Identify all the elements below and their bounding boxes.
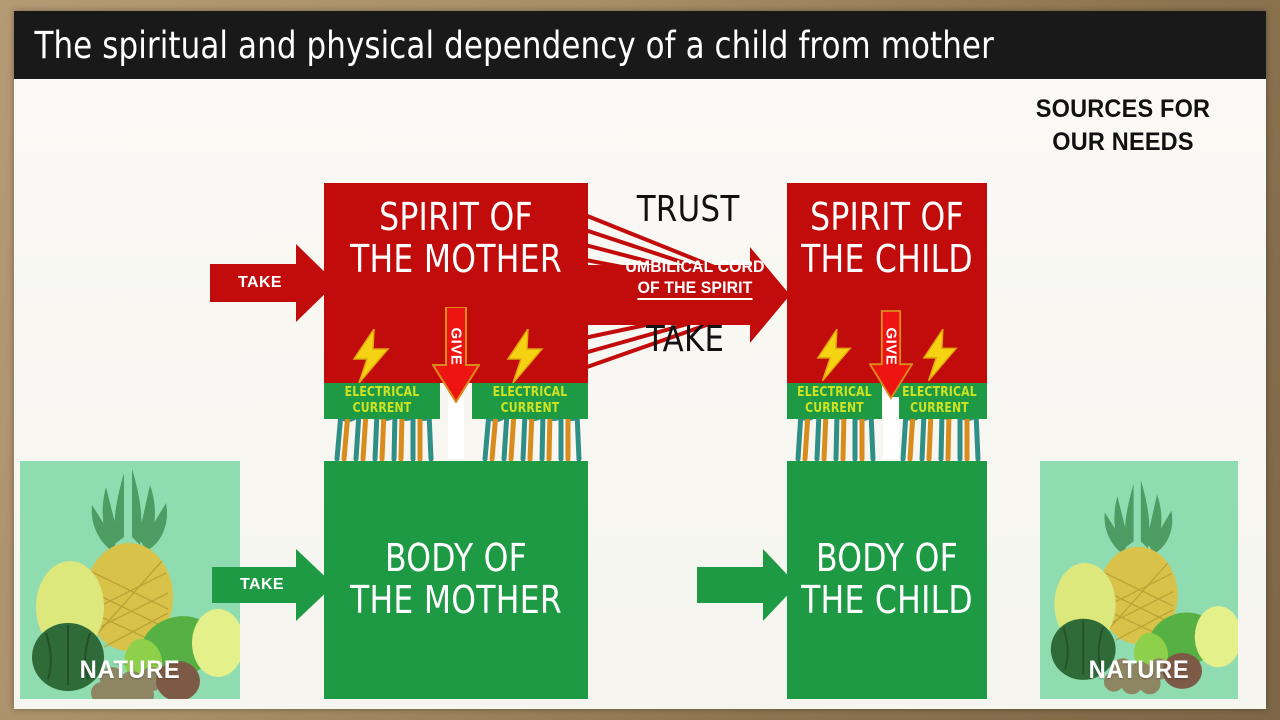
mother-electrical-band-right: ELECTRICAL CURRENT: [472, 383, 588, 419]
umbilical-caption-line1: UMBILICAL CORD: [604, 257, 786, 278]
body-mother-line1: BODY OF: [335, 538, 578, 580]
page-title: The spiritual and physical dependency of…: [14, 24, 994, 67]
child-electrical-left-text: ELECTRICAL CURRENT: [790, 385, 878, 418]
child-body-take-arrow: [697, 549, 797, 621]
mother-ec-right-line1: ELECTRICAL: [476, 385, 584, 401]
mother-give-stem: [448, 397, 464, 459]
nature-label-right: NATURE: [1045, 656, 1233, 685]
slide-canvas: The spiritual and physical dependency of…: [14, 11, 1266, 709]
mother-electrical-left-text: ELECTRICAL CURRENT: [328, 385, 436, 418]
child-lightning-bolt-right: [920, 329, 960, 381]
body-mother-line2: THE MOTHER: [335, 580, 578, 622]
spirit-child-line2: THE CHILD: [795, 239, 979, 281]
child-electrical-band-left: ELECTRICAL CURRENT: [787, 383, 882, 419]
mother-spirit-take-label: TAKE: [238, 274, 282, 292]
body-of-the-mother-box: BODY OF THE MOTHER: [324, 461, 588, 699]
mother-lightning-bolt-right: [504, 329, 546, 383]
spirit-of-the-child-label: SPIRIT OF THE CHILD: [795, 197, 979, 281]
mother-ec-left-line1: ELECTRICAL: [328, 385, 436, 401]
child-give-label: GIVE: [883, 328, 900, 362]
sources-heading-line2: OUR NEEDS: [1015, 126, 1231, 159]
body-child-line1: BODY OF: [795, 538, 979, 580]
mother-ec-right-line2: CURRENT: [476, 401, 584, 417]
title-bar: The spiritual and physical dependency of…: [14, 11, 1266, 79]
umbilical-trust-label: TRUST: [637, 189, 740, 230]
child-ec-left-line2: CURRENT: [790, 401, 878, 417]
child-lightning-bolt-left: [814, 329, 854, 381]
spirit-mother-line1: SPIRIT OF: [335, 197, 578, 239]
child-give-stem: [883, 397, 899, 459]
sources-for-our-needs-heading: SOURCES FOR OUR NEEDS: [1015, 93, 1231, 159]
body-child-line2: THE CHILD: [795, 580, 979, 622]
nature-photo-right: NATURE: [1040, 461, 1238, 699]
nature-photo-left: NATURE: [20, 461, 240, 699]
mother-electrical-band-left: ELECTRICAL CURRENT: [324, 383, 440, 419]
child-ec-right-line2: CURRENT: [895, 401, 983, 417]
mother-give-label: GIVE: [448, 328, 465, 362]
spirit-of-the-mother-label: SPIRIT OF THE MOTHER: [335, 197, 578, 281]
child-ec-left-line1: ELECTRICAL: [790, 385, 878, 401]
spirit-child-line1: SPIRIT OF: [795, 197, 979, 239]
mother-lightning-bolt-left: [350, 329, 392, 383]
umbilical-take-label: TAKE: [646, 319, 724, 360]
nature-label-left: NATURE: [26, 656, 235, 685]
sources-heading-line1: SOURCES FOR: [1015, 93, 1231, 126]
slide-frame: The spiritual and physical dependency of…: [0, 0, 1280, 720]
body-of-the-mother-label: BODY OF THE MOTHER: [335, 538, 578, 622]
umbilical-caption-line2: OF THE SPIRIT: [638, 279, 753, 300]
body-of-the-child-label: BODY OF THE CHILD: [795, 538, 979, 622]
mother-electrical-right-text: ELECTRICAL CURRENT: [476, 385, 584, 418]
spirit-mother-line2: THE MOTHER: [335, 239, 578, 281]
mother-body-take-label: TAKE: [240, 576, 284, 594]
mother-ec-left-line2: CURRENT: [328, 401, 436, 417]
body-of-the-child-box: BODY OF THE CHILD: [787, 461, 987, 699]
umbilical-cord-caption: UMBILICAL CORD OF THE SPIRIT: [604, 257, 786, 299]
